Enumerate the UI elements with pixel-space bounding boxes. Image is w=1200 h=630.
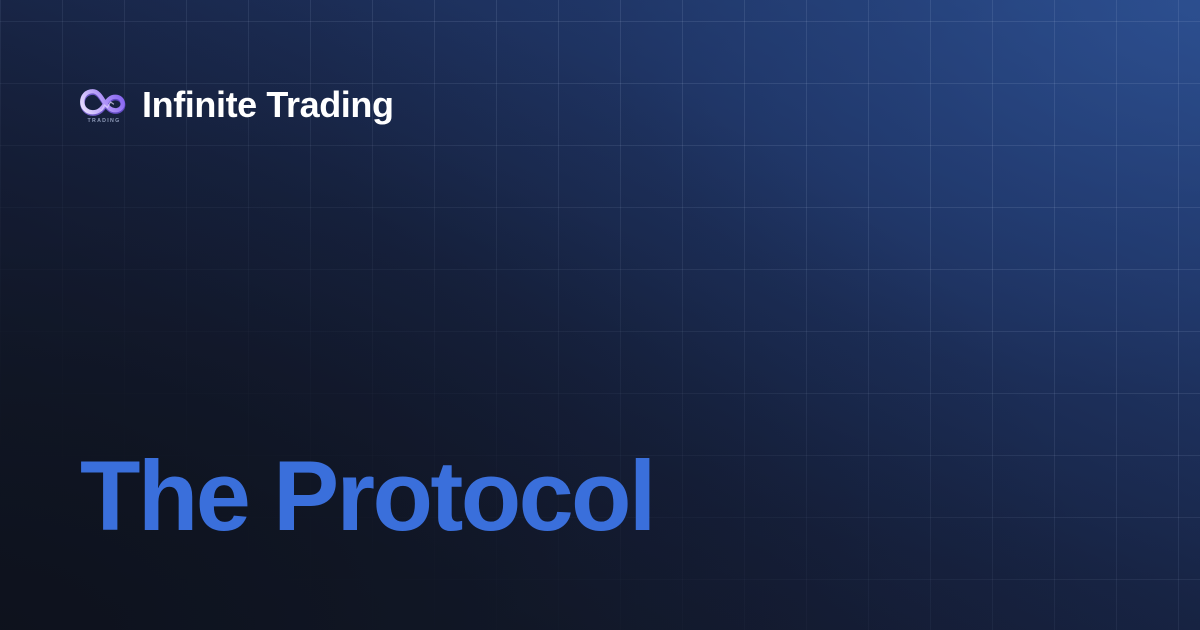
og-card: TRADING Infinite Trading The Protocol — [0, 0, 1200, 630]
brand-name-label: Infinite Trading — [142, 87, 394, 123]
card-content: TRADING Infinite Trading The Protocol — [0, 0, 1200, 630]
logo-wordmark-text: TRADING — [87, 118, 120, 124]
infinity-logo-icon: TRADING — [80, 84, 128, 126]
brand-lockup: TRADING Infinite Trading — [80, 78, 394, 132]
page-title: The Protocol — [80, 446, 654, 545]
